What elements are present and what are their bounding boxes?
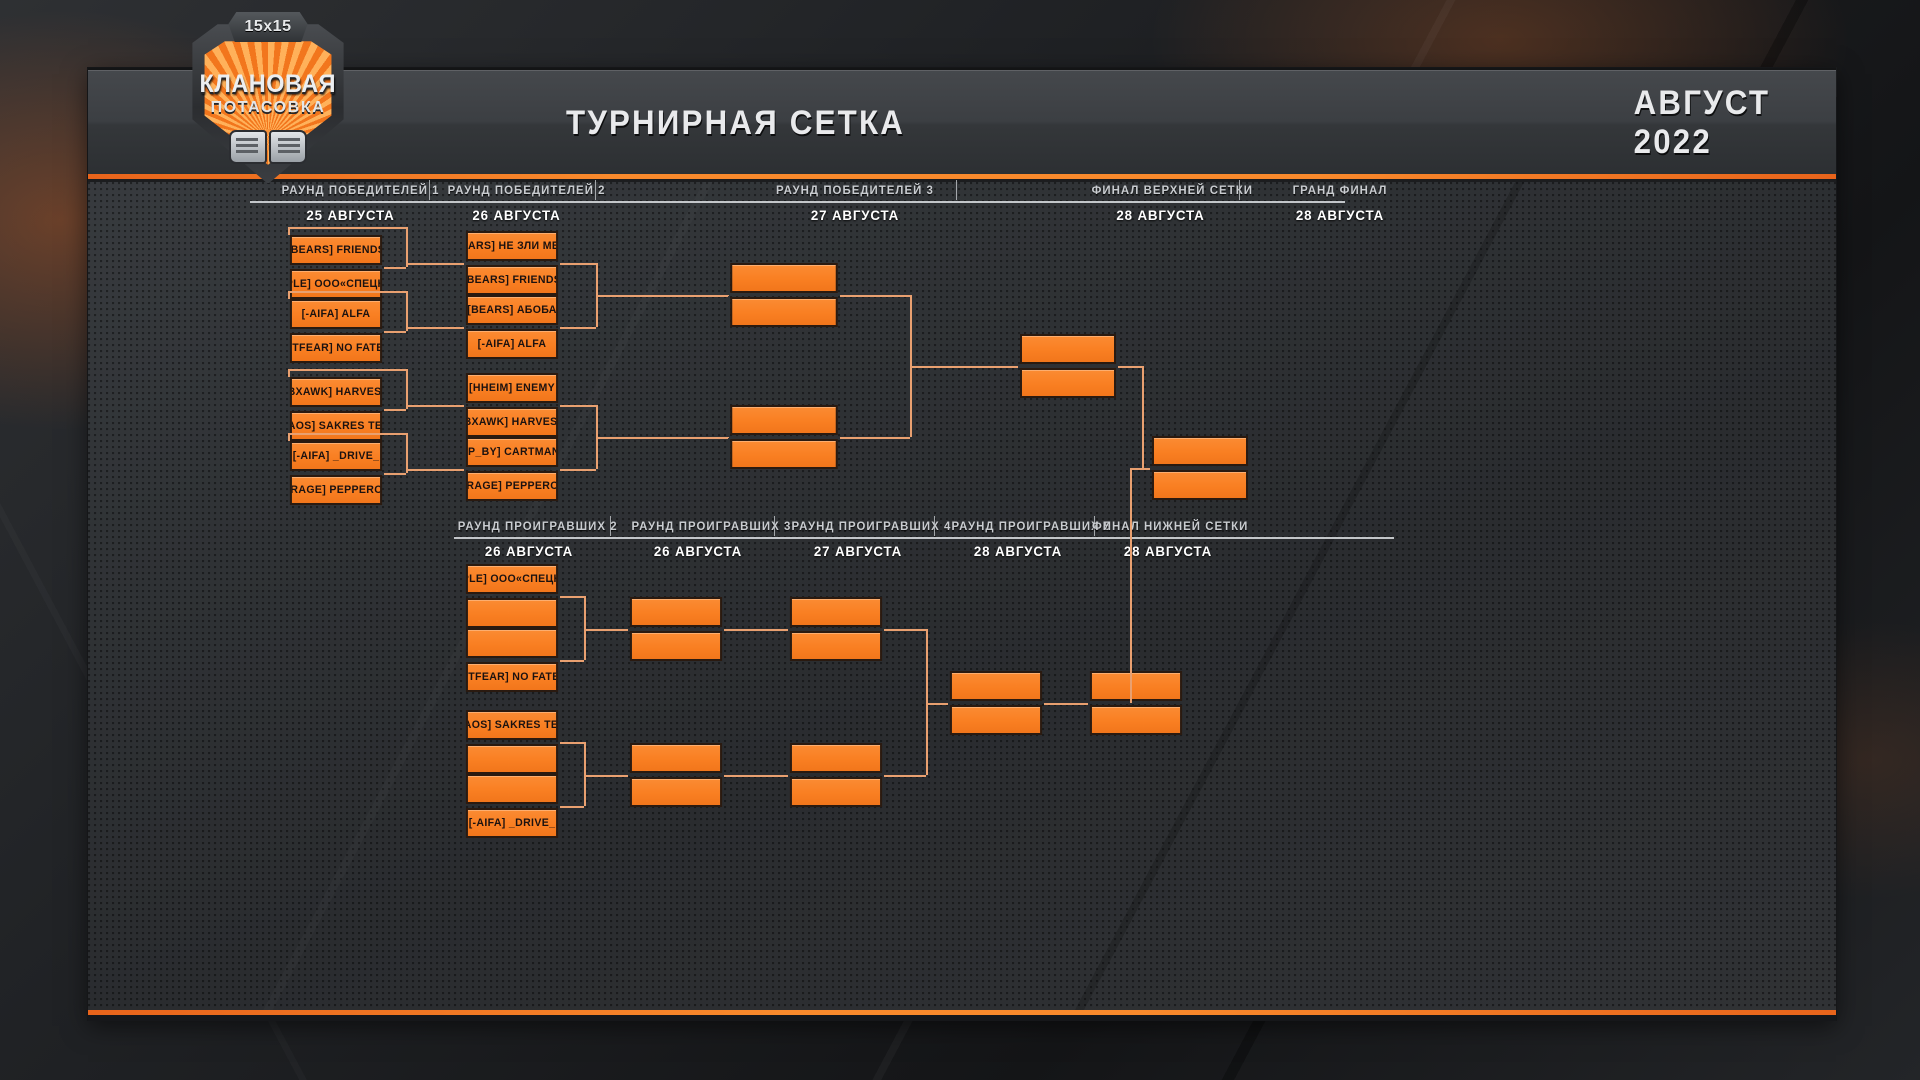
fists-icon: [227, 123, 310, 171]
round-label-upper-3: ФИНАЛ ВЕРХНЕЙ СЕТКИ: [1092, 183, 1230, 197]
bracket-canvas: РАУНД ПОБЕДИТЕЛЕЙ 125 АВГУСТАРАУНД ПОБЕД…: [88, 179, 1836, 1010]
team-slot[interactable]: [-AIFA] _DRIVE_: [466, 808, 558, 838]
bracket-connector-line: [1130, 468, 1150, 470]
round-header-rule: [454, 537, 1394, 539]
bracket-connector-line: [840, 295, 910, 297]
team-slot[interactable]: [790, 743, 882, 773]
round-label-lower-4: ФИНАЛ НИЖНЕЙ СЕТКИ: [1092, 519, 1244, 533]
team-slot[interactable]: [1020, 334, 1116, 364]
page-title: ТУРНИРНАЯ СЕТКА: [566, 70, 905, 176]
team-slot[interactable]: [X-AOS] SAKRES TEAM: [290, 411, 382, 441]
team-slot[interactable]: [X-AOS] SAKRES TEAM: [466, 710, 558, 740]
round-date-upper-3: 28 АВГУСТА: [1092, 207, 1230, 223]
bracket-connector-line: [727, 437, 729, 438]
bracket-connector-line: [584, 775, 628, 777]
badge-title-label: КЛАНОВАЯ: [190, 70, 346, 99]
bracket-connector-line: [560, 469, 596, 471]
team-slot[interactable]: [630, 777, 722, 807]
bracket-connector-line: [724, 629, 788, 631]
team-slot[interactable]: [SMPLE] ООО«СПЕЦНАЗ»: [466, 564, 558, 594]
round-date-lower-3: 28 АВГУСТА: [952, 543, 1085, 559]
bracket-connector-line: [727, 295, 729, 296]
tournament-bracket-screen: ТУРНИРНАЯ СЕТКА АВГУСТ 2022 15x15 КЛАНОВ…: [0, 0, 1920, 1080]
bracket-connector-line: [584, 742, 586, 806]
bracket-connector-line: [384, 409, 406, 411]
team-slot[interactable]: [1090, 671, 1182, 701]
round-separator: [595, 180, 596, 200]
bracket-connector-line: [406, 263, 464, 265]
bracket-connector-line: [384, 473, 406, 475]
round-label-upper-2: РАУНД ПОБЕДИТЕЛЕЙ 3: [765, 183, 946, 197]
bracket-connector-line: [406, 227, 408, 267]
bracket-connector-line: [384, 267, 406, 269]
team-slot[interactable]: [TFEAR] NO FATE: [290, 333, 382, 363]
team-slot[interactable]: [790, 597, 882, 627]
bracket-connector-line: [384, 331, 406, 333]
bracket-connector-line: [288, 369, 290, 377]
round-date-lower-1: 26 АВГУСТА: [632, 543, 765, 559]
bracket-connector-line: [560, 263, 596, 265]
round-date-upper-4: 28 АВГУСТА: [1283, 207, 1397, 223]
bracket-connector-line: [724, 775, 788, 777]
team-slot[interactable]: [-AIFA] _DRIVE_: [290, 441, 382, 471]
round-label-lower-0: РАУНД ПРОИГРАВШИХ 2: [458, 519, 601, 533]
team-slot[interactable]: [1152, 436, 1248, 466]
bracket-connector-line: [926, 629, 928, 775]
bracket-connector-line: [406, 291, 408, 331]
round-label-upper-0: РАУНД ПОБЕДИТЕЛЕЙ 1: [282, 183, 420, 197]
team-slot[interactable]: [BXAWK] HARVEST: [290, 377, 382, 407]
team-slot[interactable]: [HHEIM] ENEMY: [466, 373, 558, 403]
bracket-connector-line: [884, 775, 926, 777]
bracket-connector-line: [288, 227, 290, 235]
badge-format-label: 15x15: [228, 12, 307, 42]
round-label-upper-4: ГРАНД ФИНАЛ: [1283, 183, 1397, 197]
round-separator: [774, 516, 775, 536]
round-separator: [1239, 180, 1240, 200]
bracket-connector-line: [406, 369, 408, 409]
badge-subtitle-label: ПОТАСОВКА: [185, 99, 351, 117]
bracket-connector-line: [406, 405, 464, 407]
team-slot[interactable]: [1020, 368, 1116, 398]
round-date-upper-1: 26 АВГУСТА: [448, 207, 586, 223]
bracket-connector-line: [1118, 366, 1142, 368]
round-date-lower-2: 27 АВГУСТА: [792, 543, 925, 559]
team-slot[interactable]: [TFEAR] NO FATE: [466, 662, 558, 692]
round-date-lower-0: 26 АВГУСТА: [458, 543, 601, 559]
bracket-connector-line: [1142, 366, 1144, 468]
footer-hem: [88, 1015, 1836, 1021]
team-slot[interactable]: [466, 598, 558, 628]
round-header-rule: [250, 201, 1345, 203]
bracket-connector-line: [288, 433, 406, 435]
team-slot[interactable]: [BEARS] НЕ ЗЛИ МЕНЯ: [466, 231, 558, 261]
team-slot[interactable]: [790, 631, 882, 661]
team-slot[interactable]: [BEARS] АБОБА: [466, 295, 558, 325]
team-slot[interactable]: [QRAGE] PEPPERONI: [290, 475, 382, 505]
bracket-connector-line: [560, 660, 584, 662]
round-separator: [956, 180, 957, 200]
round-date-lower-4: 28 АВГУСТА: [1092, 543, 1244, 559]
bracket-connector-line: [560, 596, 584, 598]
bracket-connector-line: [406, 433, 408, 473]
team-slot[interactable]: [-AIFA] ALFA: [466, 329, 558, 359]
team-slot[interactable]: [730, 263, 838, 293]
bracket-connector-line: [288, 291, 406, 293]
round-date-upper-0: 25 АВГУСТА: [282, 207, 420, 223]
team-slot[interactable]: [BEARS] FRIENDS: [290, 235, 382, 265]
bracket-connector-line: [560, 327, 596, 329]
round-separator: [934, 516, 935, 536]
round-separator: [429, 180, 430, 200]
team-slot[interactable]: [466, 628, 558, 658]
bracket-connector-line: [926, 703, 948, 705]
bracket-connector-line: [288, 291, 290, 299]
fist-right-icon: [269, 130, 307, 164]
team-slot[interactable]: [BXAWK] HARVEST: [466, 407, 558, 437]
team-slot[interactable]: [630, 631, 722, 661]
team-slot[interactable]: [-AIFA] ALFA: [290, 299, 382, 329]
month-label: АВГУСТ 2022: [1634, 70, 1836, 176]
bracket-connector-line: [288, 433, 290, 441]
round-label-lower-2: РАУНД ПРОИГРАВШИХ 4: [792, 519, 925, 533]
round-label-upper-1: РАУНД ПОБЕДИТЕЛЕЙ 2: [448, 183, 586, 197]
team-slot[interactable]: [730, 439, 838, 469]
tournament-logo: 15x15 КЛАНОВАЯ ПОТАСОВКА: [178, 14, 358, 184]
team-slot[interactable]: [630, 597, 722, 627]
team-slot[interactable]: [1152, 470, 1248, 500]
team-slot[interactable]: [790, 777, 882, 807]
team-slot[interactable]: [P_BY] CARTMAN: [466, 437, 558, 467]
team-slot[interactable]: [QRAGE] PEPPERONI: [466, 471, 558, 501]
bracket-connector-line: [560, 405, 596, 407]
team-slot[interactable]: [630, 743, 722, 773]
bracket-connector-line: [584, 596, 586, 660]
round-label-lower-1: РАУНД ПРОИГРАВШИХ 3: [632, 519, 765, 533]
bracket-connector-line: [406, 327, 464, 329]
team-slot[interactable]: [730, 405, 838, 435]
team-slot[interactable]: [SMPLE] ООО«СПЕЦНАЗ»: [290, 269, 382, 299]
fist-left-icon: [229, 130, 267, 164]
bracket-connector-line: [1044, 703, 1088, 705]
round-date-upper-2: 27 АВГУСТА: [765, 207, 946, 223]
bracket-connector-line: [596, 295, 728, 297]
bracket-connector-line: [560, 742, 584, 744]
bracket-connector-line: [596, 437, 728, 439]
team-slot[interactable]: [950, 671, 1042, 701]
bracket-connector-line: [584, 629, 628, 631]
round-label-lower-3: РАУНД ПРОИГРАВШИХ 5: [952, 519, 1085, 533]
team-slot[interactable]: [BEARS] FRIENDS: [466, 265, 558, 295]
team-slot[interactable]: [466, 774, 558, 804]
team-slot[interactable]: [950, 705, 1042, 735]
bracket-connector-line: [560, 806, 584, 808]
bracket-connector-line: [288, 369, 406, 371]
bracket-connector-line: [288, 227, 406, 229]
bracket-connector-line: [884, 629, 926, 631]
team-slot[interactable]: [1090, 705, 1182, 735]
team-slot[interactable]: [730, 297, 838, 327]
team-slot[interactable]: [466, 744, 558, 774]
bracket-connector-line: [406, 469, 464, 471]
bracket-connector-line: [840, 437, 910, 439]
bracket-connector-line: [1130, 468, 1132, 703]
round-separator: [610, 516, 611, 536]
bracket-connector-line: [910, 366, 1018, 368]
